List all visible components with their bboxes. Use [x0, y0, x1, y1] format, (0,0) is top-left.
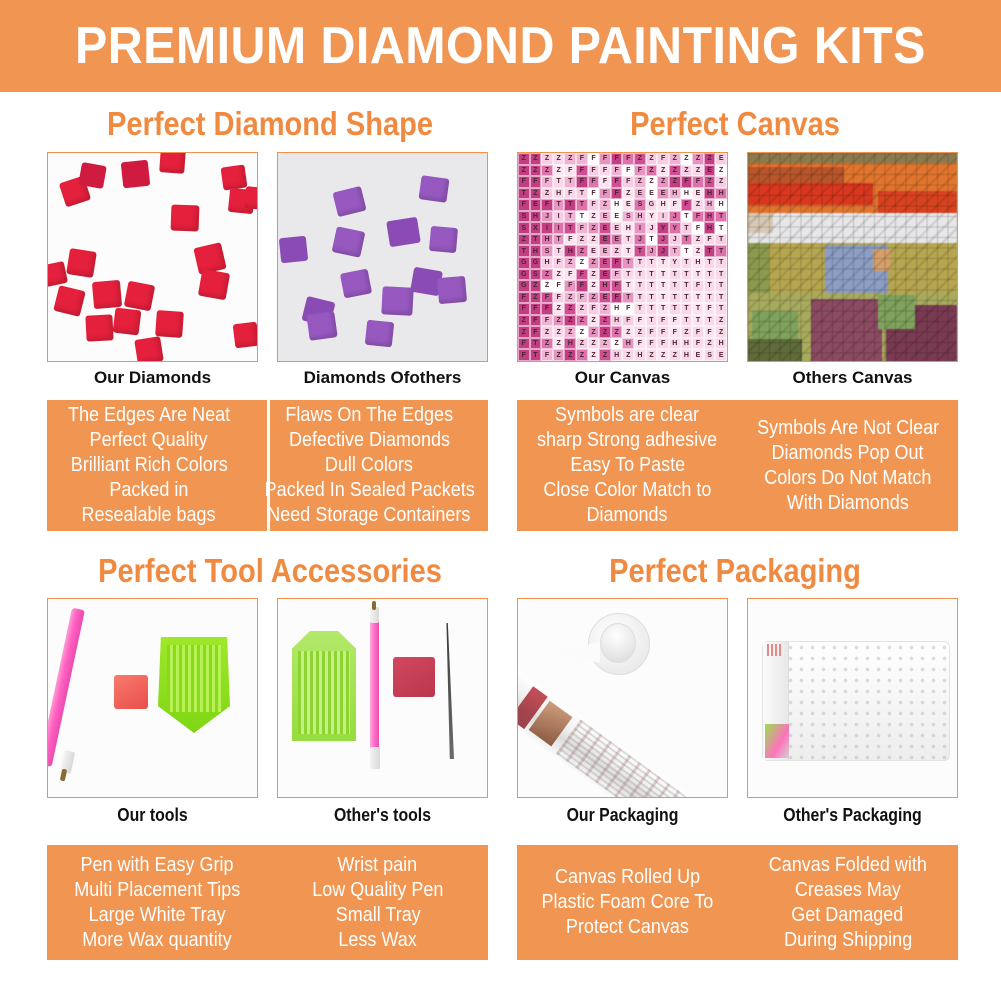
canvas-symbol-cell: Z	[576, 245, 588, 257]
canvas-symbol-cell: E	[599, 257, 611, 269]
canvas-symbol-cell: Z	[541, 280, 553, 292]
canvas-symbol-cell: F	[518, 303, 530, 315]
canvas-symbol-cell: Z	[518, 153, 530, 165]
canvas-symbol-cell: Z	[657, 176, 669, 188]
canvas-symbol-cell: E	[599, 211, 611, 223]
canvas-symbol-cell: Z	[704, 338, 716, 350]
feature-line: Packed in	[109, 478, 188, 503]
canvas-symbol-cell: F	[576, 222, 588, 234]
canvas-symbol-cell: Y	[646, 211, 658, 223]
wax-square	[393, 657, 435, 697]
feature-line: Diamonds Pop Out	[772, 441, 924, 466]
canvas-symbol-cell: E	[692, 188, 704, 200]
canvas-symbol-cell: T	[646, 257, 658, 269]
wax-square	[114, 675, 148, 709]
canvas-symbol-cell: F	[576, 176, 588, 188]
canvas-symbol-cell: H	[704, 199, 716, 211]
canvas-symbol-cell: H	[704, 188, 716, 200]
canvas-symbol-cell: T	[553, 199, 565, 211]
canvas-symbol-cell: T	[657, 257, 669, 269]
pink-pen-green-tray-photo	[48, 599, 257, 797]
cap-flange	[558, 641, 600, 663]
canvas-symbol-cell: Z	[553, 165, 565, 177]
canvas-symbol-cell: Z	[681, 326, 693, 338]
canvas-symbol-cell: F	[657, 153, 669, 165]
canvas-symbol-cell: H	[530, 245, 542, 257]
canvas-symbol-cell: Z	[530, 292, 542, 304]
canvas-symbol-cell: Z	[646, 153, 658, 165]
canvas-symbol-cell: T	[622, 234, 634, 246]
canvas-symbol-cell: F	[611, 269, 623, 281]
canvas-symbol-cell: Z	[622, 188, 634, 200]
canvas-symbol-cell: G	[518, 280, 530, 292]
canvas-symbol-cell: Z	[622, 326, 634, 338]
canvas-symbol-cell: F	[564, 280, 576, 292]
canvas-symbol-cell: Z	[669, 153, 681, 165]
canvas-symbol-cell: F	[704, 303, 716, 315]
canvas-symbol-cell: F	[634, 165, 646, 177]
canvas-symbol-cell: H	[611, 315, 623, 327]
canvas-symbol-cell: Z	[622, 349, 634, 361]
page-header-band: PREMIUM DIAMOND PAINTING KITS	[0, 0, 1001, 92]
canvas-symbol-cell: F	[692, 338, 704, 350]
canvas-symbol-cell: F	[541, 176, 553, 188]
feature-line: Close Color Match to	[543, 478, 711, 503]
canvas-symbol-cell: Z	[588, 349, 600, 361]
canvas-symbol-cell: T	[634, 257, 646, 269]
purple-square-diamonds-photo	[278, 153, 487, 361]
canvas-symbol-cell: T	[553, 245, 565, 257]
pen-metal-tip	[372, 601, 376, 610]
mailer-contents	[765, 724, 789, 758]
green-tray	[292, 631, 356, 741]
feature-line: More Wax quantity	[83, 928, 232, 953]
canvas-symbol-cell: F	[576, 153, 588, 165]
canvas-symbol-cell: F	[692, 222, 704, 234]
canvas-symbol-cell: T	[646, 292, 658, 304]
canvas-symbol-cell: T	[576, 199, 588, 211]
canvas-symbol-cell: T	[669, 292, 681, 304]
canvas-symbol-cell: T	[669, 245, 681, 257]
canvas-symbol-cell: Z	[518, 234, 530, 246]
feature-block-packaging: Canvas Rolled UpPlastic Foam Core ToProt…	[517, 845, 958, 960]
canvas-symbol-cell: Z	[576, 326, 588, 338]
canvas-symbol-cell: T	[518, 245, 530, 257]
canvas-symbol-cell: Z	[588, 257, 600, 269]
canvas-symbol-cell: F	[599, 153, 611, 165]
canvas-symbol-cell: S	[518, 222, 530, 234]
feature-line: Wrist pain	[338, 853, 418, 878]
canvas-symbol-cell: Z	[599, 303, 611, 315]
caption-others-canvas: Others Canvas	[747, 368, 958, 388]
canvas-symbol-cell: F	[657, 326, 669, 338]
canvas-symbol-cell: F	[611, 188, 623, 200]
feature-line: Dull Colors	[325, 453, 413, 478]
photo-our-packaging	[517, 598, 728, 798]
green-tray	[158, 637, 230, 733]
canvas-symbol-cell: T	[669, 269, 681, 281]
canvas-symbol-cell: Z	[692, 234, 704, 246]
canvas-symbol-cell: T	[622, 269, 634, 281]
canvas-symbol-cell: Z	[553, 349, 565, 361]
canvas-symbol-cell: Z	[576, 338, 588, 350]
canvas-symbol-cell: H	[611, 303, 623, 315]
photo-diamonds-ofothers	[277, 152, 488, 362]
canvas-symbol-cell: H	[541, 234, 553, 246]
rolled-canvas-tube-photo	[518, 599, 727, 797]
canvas-symbol-cell: Z	[588, 338, 600, 350]
canvas-symbol-cell: F	[588, 165, 600, 177]
canvas-symbol-cell: F	[530, 326, 542, 338]
canvas-symbol-cell: F	[530, 315, 542, 327]
canvas-symbol-cell: F	[553, 280, 565, 292]
canvas-symbol-cell: T	[681, 315, 693, 327]
canvas-symbol-cell: E	[704, 165, 716, 177]
canvas-symbol-cell: T	[657, 303, 669, 315]
canvas-symbol-cell: Z	[634, 176, 646, 188]
canvas-symbol-cell: T	[715, 245, 727, 257]
canvas-symbol-cell: T	[681, 234, 693, 246]
canvas-symbol-cell: F	[576, 292, 588, 304]
canvas-symbol-cell: T	[576, 211, 588, 223]
caption-others-tools: Other's tools	[290, 805, 476, 826]
canvas-symbol-cell: Z	[530, 188, 542, 200]
canvas-symbol-cell: H	[715, 338, 727, 350]
canvas-symbol-cell: F	[622, 315, 634, 327]
canvas-symbol-cell: T	[681, 280, 693, 292]
canvas-symbol-cell: H	[564, 245, 576, 257]
section-heading-packaging: Perfect Packaging	[533, 552, 938, 590]
canvas-symbol-cell: F	[622, 176, 634, 188]
feature-line: With Diamonds	[787, 491, 909, 516]
feature-line: Need Storage Containers	[268, 503, 471, 528]
canvas-symbol-cell: F	[588, 199, 600, 211]
canvas-symbol-cell: Z	[599, 199, 611, 211]
canvas-symbol-cell: T	[681, 269, 693, 281]
feature-line: Large White Tray	[89, 903, 226, 928]
canvas-symbol-cell: F	[599, 188, 611, 200]
canvas-symbol-cell: T	[622, 257, 634, 269]
canvas-symbol-cell: Z	[518, 315, 530, 327]
canvas-symbol-cell: Z	[576, 303, 588, 315]
canvas-symbol-cell: Z	[657, 349, 669, 361]
canvas-symbol-cell: I	[657, 211, 669, 223]
canvas-symbol-cell: Y	[657, 222, 669, 234]
canvas-symbol-cell: F	[611, 257, 623, 269]
feature-line: Perfect Quality	[90, 428, 208, 453]
feature-line: Multi Placement Tips	[74, 878, 240, 903]
canvas-symbol-cell: F	[576, 280, 588, 292]
canvas-symbol-cell: E	[588, 245, 600, 257]
canvas-symbol-cell: T	[704, 269, 716, 281]
canvas-symbol-cell: T	[692, 292, 704, 304]
canvas-symbol-cell: Z	[715, 326, 727, 338]
canvas-symbol-cell: T	[715, 257, 727, 269]
canvas-symbol-cell: T	[634, 245, 646, 257]
canvas-symbol-cell: T	[704, 315, 716, 327]
canvas-symbol-cell: T	[715, 234, 727, 246]
canvas-symbol-cell: H	[715, 188, 727, 200]
canvas-symbol-cell: I	[634, 222, 646, 234]
feature-block-diamond-shape: The Edges Are NeatPerfect QualityBrillia…	[47, 400, 488, 531]
canvas-symbol-cell: T	[715, 211, 727, 223]
canvas-symbol-cell: T	[530, 349, 542, 361]
canvas-symbol-cell: T	[681, 257, 693, 269]
canvas-symbol-cell: F	[530, 303, 542, 315]
canvas-symbol-cell: Z	[669, 165, 681, 177]
canvas-symbol-cell: T	[622, 280, 634, 292]
canvas-symbol-cell: Z	[541, 269, 553, 281]
canvas-symbol-cell: Z	[599, 315, 611, 327]
canvas-symbol-cell: S	[530, 269, 542, 281]
canvas-symbol-cell: Z	[588, 292, 600, 304]
canvas-symbol-cell: Z	[599, 338, 611, 350]
feature-column-ours: Symbols are clearsharp Strong adhesiveEa…	[517, 400, 738, 531]
canvas-symbol-cell: G	[518, 269, 530, 281]
canvas-symbol-cell: E	[692, 349, 704, 361]
canvas-symbol-cell: Z	[646, 176, 658, 188]
canvas-symbol-cell: E	[599, 245, 611, 257]
canvas-symbol-cell: T	[681, 222, 693, 234]
canvas-symbol-cell: T	[646, 303, 658, 315]
canvas-symbol-cell: F	[657, 338, 669, 350]
canvas-symbol-cell: T	[530, 338, 542, 350]
canvas-symbol-cell: E	[715, 349, 727, 361]
canvas-symbol-cell: Z	[564, 315, 576, 327]
canvas-symbol-cell: F	[564, 234, 576, 246]
feature-column-others: Canvas Folded withCreases MayGet Damaged…	[738, 845, 959, 960]
feature-column-ours: The Edges Are NeatPerfect QualityBrillia…	[47, 400, 251, 531]
canvas-symbol-cell: E	[715, 153, 727, 165]
feature-column-others: Symbols Are Not ClearDiamonds Pop OutCol…	[738, 400, 959, 531]
canvas-symbol-cell: F	[530, 176, 542, 188]
feature-line: Small Tray	[335, 903, 420, 928]
canvas-symbol-cell: T	[715, 269, 727, 281]
canvas-symbol-cell: T	[657, 292, 669, 304]
feature-column-ours: Canvas Rolled UpPlastic Foam Core ToProt…	[517, 845, 738, 960]
canvas-symbol-cell: F	[634, 315, 646, 327]
canvas-symbol-cell: F	[576, 165, 588, 177]
pink-pen-body	[47, 608, 85, 767]
canvas-symbol-cell: Z	[564, 257, 576, 269]
photo-our-diamonds	[47, 152, 258, 362]
feature-line: Diamonds	[587, 503, 668, 528]
feature-line: Colors Do Not Match	[764, 466, 931, 491]
canvas-symbol-cell: Z	[564, 153, 576, 165]
canvas-symbol-cell: F	[518, 292, 530, 304]
canvas-symbol-cell: F	[681, 176, 693, 188]
canvas-symbol-cell: F	[564, 269, 576, 281]
canvas-symbol-cell: T	[669, 280, 681, 292]
canvas-symbol-cell: Z	[541, 188, 553, 200]
pink-symbol-canvas-photo: ZZZZZFFFFFZZFZZZZEZZZZFFFFFFFZZZZZEZFFFT…	[518, 153, 727, 361]
canvas-symbol-cell: H	[564, 338, 576, 350]
canvas-symbol-cell: H	[553, 188, 565, 200]
canvas-symbol-cell: E	[646, 188, 658, 200]
canvas-symbol-cell: Z	[553, 326, 565, 338]
canvas-symbol-cell: H	[704, 222, 716, 234]
canvas-symbol-cell: H	[657, 199, 669, 211]
red-square-diamonds-photo	[48, 153, 257, 361]
canvas-symbol-cell: Z	[530, 153, 542, 165]
canvas-symbol-cell: T	[681, 211, 693, 223]
green-tray-pen-tweezers-photo	[278, 599, 487, 797]
canvas-symbol-cell: E	[599, 292, 611, 304]
feature-block-tool-accessories: Pen with Easy GripMulti Placement TipsLa…	[47, 845, 488, 960]
canvas-symbol-cell: T	[646, 269, 658, 281]
canvas-symbol-cell: Z	[657, 165, 669, 177]
canvas-symbol-cell: Z	[564, 303, 576, 315]
canvas-symbol-cell: Z	[692, 153, 704, 165]
canvas-symbol-cell: F	[692, 280, 704, 292]
feature-line: Flaws On The Edges	[285, 403, 453, 428]
canvas-symbol-cell: T	[681, 245, 693, 257]
canvas-symbol-cell: Z	[588, 222, 600, 234]
canvas-symbol-cell: T	[704, 257, 716, 269]
canvas-symbol-grid: ZZZZZFFFFFZZFZZZZEZZZZFFFFFFFZZZZZEZFFFT…	[518, 153, 727, 361]
canvas-symbol-cell: T	[564, 211, 576, 223]
canvas-symbol-cell: F	[611, 153, 623, 165]
canvas-symbol-cell: F	[669, 199, 681, 211]
canvas-symbol-cell: F	[553, 292, 565, 304]
canvas-symbol-cell: T	[704, 280, 716, 292]
canvas-symbol-cell: F	[541, 349, 553, 361]
canvas-symbol-cell: Z	[692, 165, 704, 177]
canvas-symbol-cell: H	[634, 349, 646, 361]
canvas-symbol-cell: E	[611, 222, 623, 234]
canvas-symbol-cell: H	[669, 188, 681, 200]
canvas-symbol-cell: I	[541, 222, 553, 234]
canvas-symbol-cell: E	[611, 211, 623, 223]
canvas-symbol-cell: Z	[553, 315, 565, 327]
canvas-symbol-cell: H	[704, 211, 716, 223]
feature-column-others: Wrist painLow Quality PenSmall TrayLess …	[268, 845, 489, 960]
canvas-symbol-cell: Z	[553, 303, 565, 315]
tweezers	[440, 623, 454, 759]
canvas-symbol-cell: F	[692, 211, 704, 223]
canvas-symbol-cell: Z	[541, 326, 553, 338]
caption-our-packaging: Our Packaging	[530, 805, 716, 826]
canvas-symbol-cell: T	[681, 292, 693, 304]
canvas-symbol-cell: F	[669, 326, 681, 338]
canvas-symbol-cell: F	[588, 303, 600, 315]
feature-line: Low Quality Pen	[312, 878, 443, 903]
canvas-symbol-cell: F	[541, 292, 553, 304]
canvas-symbol-cell: J	[634, 234, 646, 246]
canvas-symbol-cell: F	[669, 315, 681, 327]
canvas-symbol-cell: T	[681, 303, 693, 315]
canvas-symbol-cell: F	[588, 176, 600, 188]
caption-diamonds-ofothers: Diamonds Ofothers	[277, 368, 488, 388]
bubble-mailer	[762, 641, 950, 761]
canvas-symbol-cell: Z	[588, 211, 600, 223]
canvas-symbol-cell: Z	[518, 326, 530, 338]
canvas-symbol-cell: H	[681, 349, 693, 361]
canvas-symbol-cell: F	[634, 338, 646, 350]
feature-line: Plastic Foam Core To	[541, 890, 713, 915]
canvas-symbol-cell: F	[657, 315, 669, 327]
canvas-symbol-cell: Z	[611, 245, 623, 257]
canvas-symbol-cell: T	[576, 188, 588, 200]
canvas-symbol-cell: T	[646, 234, 658, 246]
canvas-symbol-cell: T	[622, 245, 634, 257]
canvas-symbol-cell: J	[669, 234, 681, 246]
canvas-symbol-cell: Z	[704, 153, 716, 165]
canvas-symbol-cell: F	[588, 188, 600, 200]
canvas-symbol-cell: T	[553, 234, 565, 246]
pen-metal-tip	[60, 769, 67, 782]
pink-pen-body	[370, 619, 379, 751]
canvas-symbol-cell: T	[564, 176, 576, 188]
canvas-symbol-cell: Z	[588, 280, 600, 292]
canvas-symbol-cell: I	[553, 211, 565, 223]
canvas-symbol-cell: F	[681, 199, 693, 211]
canvas-symbol-cell: T	[657, 280, 669, 292]
canvas-symbol-cell: F	[576, 269, 588, 281]
canvas-symbol-cell: S	[541, 245, 553, 257]
canvas-tube	[517, 663, 692, 798]
canvas-symbol-cell: Z	[576, 257, 588, 269]
canvas-symbol-cell: T	[646, 315, 658, 327]
canvas-symbol-cell: G	[530, 257, 542, 269]
canvas-symbol-cell: Z	[634, 153, 646, 165]
canvas-symbol-cell: T	[692, 303, 704, 315]
canvas-symbol-cell: Z	[518, 165, 530, 177]
blurry-color-canvas-photo	[748, 153, 957, 361]
canvas-symbol-cell: H	[681, 188, 693, 200]
caption-our-canvas: Our Canvas	[517, 368, 728, 388]
canvas-symbol-cell: Y	[669, 257, 681, 269]
canvas-symbol-cell: T	[704, 245, 716, 257]
canvas-symbol-cell: E	[622, 199, 634, 211]
canvas-symbol-cell: H	[622, 222, 634, 234]
canvas-symbol-cell: F	[692, 176, 704, 188]
canvas-symbol-cell: T	[646, 280, 658, 292]
canvas-symbol-cell: S	[704, 349, 716, 361]
canvas-symbol-cell: T	[692, 315, 704, 327]
canvas-symbol-cell: H	[634, 211, 646, 223]
canvas-symbol-cell: Z	[530, 165, 542, 177]
feature-line: Protect Canvas	[566, 915, 689, 940]
feature-column-ours: Pen with Easy GripMulti Placement TipsLa…	[47, 845, 268, 960]
canvas-symbol-cell: F	[518, 338, 530, 350]
canvas-symbol-cell: Z	[576, 349, 588, 361]
canvas-symbol-cell: Z	[576, 234, 588, 246]
canvas-symbol-cell: E	[599, 234, 611, 246]
bubble-mailer-photo	[748, 599, 957, 797]
canvas-symbol-cell: Z	[681, 153, 693, 165]
photo-our-canvas: ZZZZZFFFFFZZFZZZZEZZZZFFFFFFFZZZZZEZFFFT…	[517, 152, 728, 362]
canvas-symbol-cell: Z	[692, 199, 704, 211]
canvas-symbol-cell: T	[657, 269, 669, 281]
canvas-symbol-cell: H	[669, 338, 681, 350]
canvas-symbol-cell: F	[541, 315, 553, 327]
canvas-symbol-cell: Z	[553, 153, 565, 165]
canvas-symbol-cell: Z	[599, 349, 611, 361]
photo-others-canvas	[747, 152, 958, 362]
canvas-symbol-cell: S	[518, 211, 530, 223]
canvas-symbol-cell: G	[646, 199, 658, 211]
feature-line: Less Wax	[339, 928, 417, 953]
canvas-symbol-cell: F	[599, 165, 611, 177]
canvas-symbol-cell: F	[553, 257, 565, 269]
canvas-symbol-cell: Z	[576, 315, 588, 327]
canvas-symbol-cell: H	[611, 349, 623, 361]
feature-block-canvas: Symbols are clearsharp Strong adhesiveEa…	[517, 400, 958, 531]
canvas-symbol-cell: T	[634, 280, 646, 292]
canvas-symbol-cell: F	[704, 234, 716, 246]
canvas-symbol-cell: I	[553, 222, 565, 234]
